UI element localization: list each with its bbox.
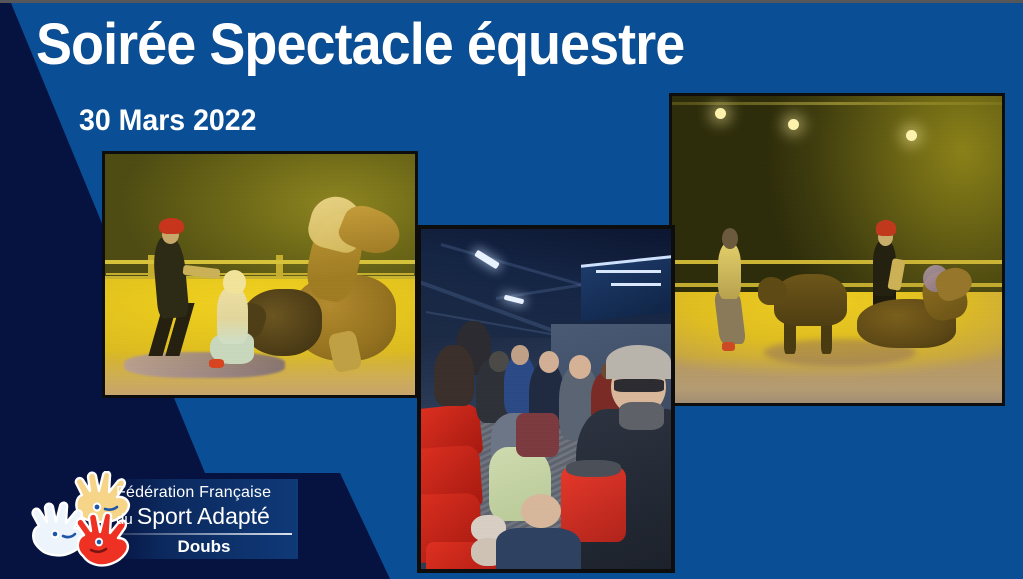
red-helmet (876, 220, 896, 235)
ceiling-truss (672, 102, 1002, 105)
cow-head (758, 277, 788, 305)
screen-highlight (596, 270, 661, 273)
photo-center-canvas (421, 229, 671, 569)
foreground-man-legs (496, 528, 581, 573)
handbag (516, 413, 559, 457)
logo-line-sport-adapte: du Sport Adapté (116, 503, 270, 530)
participant-head (223, 270, 246, 294)
foreground-man-hand (521, 494, 561, 528)
participant-body (217, 287, 248, 345)
foreground-man-hair (606, 345, 671, 379)
photo-right-canvas (672, 96, 1002, 403)
handler-body (718, 243, 741, 298)
screen-highlight (611, 283, 661, 286)
event-date: 30 Mars 2022 (79, 104, 256, 138)
spotlight (906, 130, 917, 141)
participant-shoe (209, 359, 225, 369)
photo-center-audience[interactable] (417, 225, 675, 573)
photo-right-arena[interactable] (669, 93, 1005, 406)
arena-rail (105, 260, 415, 264)
page-title: Soirée Spectacle équestre (36, 11, 684, 78)
handler-shoe (722, 342, 735, 351)
logo-line-federation: Fédération Française (116, 484, 271, 502)
photo-left-horse-show[interactable] (102, 151, 418, 398)
red-helmet (159, 218, 184, 234)
photo-left-canvas (105, 154, 415, 395)
eyeglasses-icon (614, 379, 664, 393)
spectator-head (511, 345, 529, 365)
logo-divider (120, 533, 292, 535)
scarf (619, 402, 664, 429)
presentation-slide: Soirée Spectacle équestre 30 Mars 2022 (0, 0, 1023, 579)
bag-strap (566, 460, 621, 477)
ffsa-logo[interactable]: Fédération Française du Sport Adapté Dou… (28, 471, 298, 567)
spectator-head (569, 355, 592, 379)
video-screen (581, 255, 671, 322)
spectator-head (539, 351, 559, 373)
logo-department: Doubs (116, 537, 292, 557)
spotlight (788, 119, 799, 130)
logo-du: du (116, 511, 133, 528)
logo-sport-adapte: Sport Adapté (137, 503, 270, 529)
spectator (434, 345, 474, 406)
cow-body (774, 274, 847, 326)
